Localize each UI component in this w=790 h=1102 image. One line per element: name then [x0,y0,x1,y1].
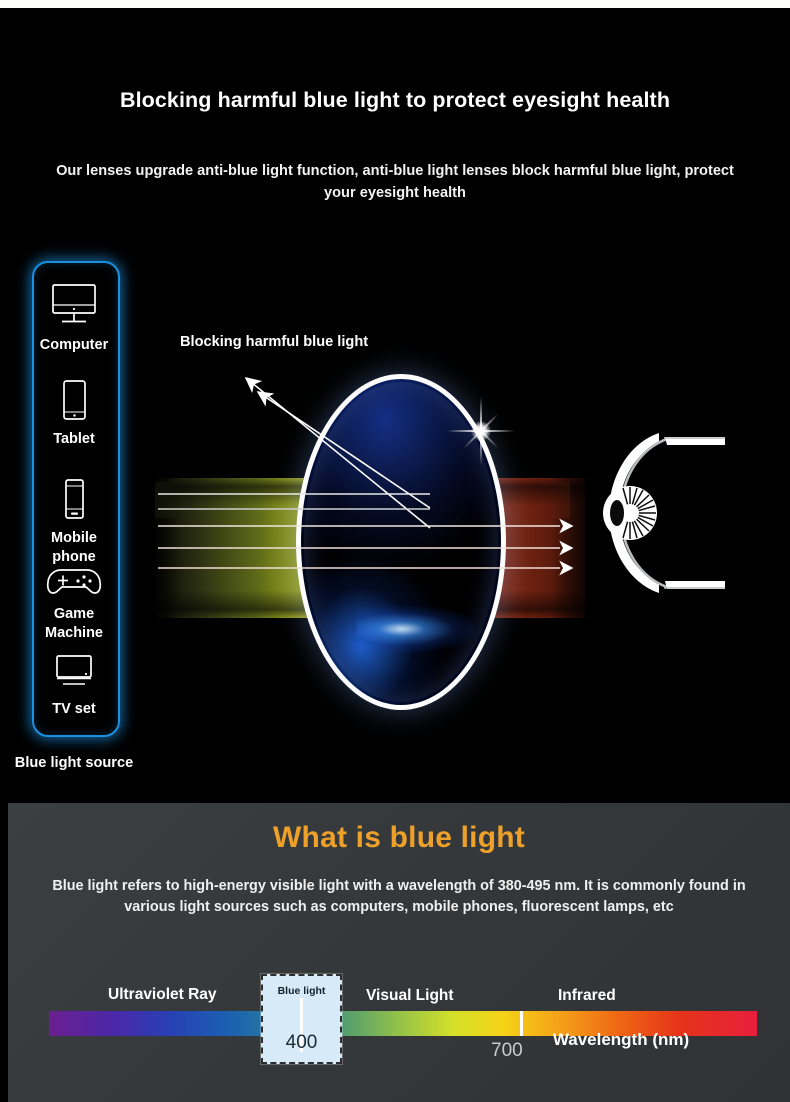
spectrum-label-infrared: Infrared [558,986,616,1006]
device-item-mobile-phone: Mobile phone [32,478,116,567]
spectrum-value-700: 700 [491,1040,523,1062]
upper-dark-panel: Blocking harmful blue light to protect e… [0,8,790,803]
device-label: Tablet [32,430,116,449]
lens-ellipse-icon [296,374,506,710]
what-is-blue-light-panel: What is blue light Blue light refers to … [8,803,790,1102]
infographic-page: Blocking harmful blue light to protect e… [0,0,790,1102]
tablet-icon [32,379,116,428]
blocking-annotation-label: Blocking harmful blue light [180,332,390,352]
tv-icon [32,653,116,698]
spectrum-label-visual-light: Visual Light [366,986,454,1006]
callout-value: 400 [263,1026,340,1060]
top-white-strip [0,0,790,8]
device-label: TV set [32,700,116,719]
callout-title: Blue light [263,976,340,1006]
spectrum-label-ultraviolet: Ultraviolet Ray [108,985,228,1005]
device-item-tablet: Tablet [32,379,116,449]
monitor-icon [32,281,116,334]
spectrum-tick-700 [520,1011,523,1036]
blue-light-callout: Blue light 400 [261,974,342,1064]
device-item-tv-set: TV set [32,653,116,719]
page-subheadline: Our lenses upgrade anti-blue light funct… [45,160,745,204]
lens-sparkle-icon [446,396,516,466]
spectrum-axis-label: Wavelength (nm) [536,1028,706,1051]
lens-blue-flare [356,606,476,652]
blue-light-source-label: Blue light source [6,753,142,773]
gamepad-icon [32,564,116,603]
device-label: Computer [32,336,116,355]
eye-cross-section-icon [603,433,725,593]
smartphone-icon [32,478,116,527]
section-description: Blue light refers to high-energy visible… [49,876,749,918]
device-label: Game Machine [32,605,116,643]
device-item-computer: Computer [32,281,116,355]
section-title: What is blue light [8,821,790,855]
device-label: Mobile phone [32,529,116,567]
page-headline: Blocking harmful blue light to protect e… [0,88,790,113]
device-item-game-machine: Game Machine [32,564,116,643]
